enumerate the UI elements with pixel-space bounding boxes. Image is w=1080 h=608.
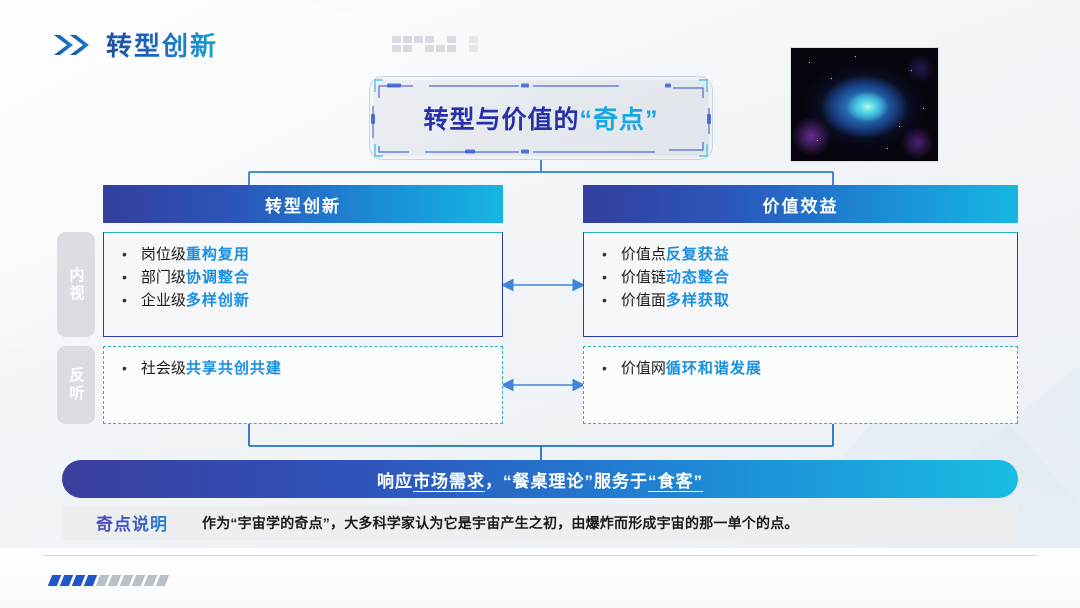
summary-banner: 响应市场需求，“餐桌理论”服务于“食客” — [62, 460, 1018, 498]
galaxy-singularity-image — [790, 47, 939, 162]
bullet-list: • 社会级共享共创共建 — [104, 347, 502, 380]
list-item: • 社会级共享共创共建 — [122, 357, 502, 380]
column-header-right[interactable]: 价值效益 — [583, 185, 1018, 223]
list-item-accent: 动态整合 — [666, 269, 730, 286]
side-tab-reflection[interactable]: 反听 — [57, 346, 95, 424]
summary-segment-4-underlined: “食客” — [648, 467, 703, 492]
list-item-accent: 协调整合 — [186, 269, 250, 286]
list-item-accent: 重构复用 — [186, 246, 250, 263]
list-item-text: 岗位级重构复用 — [141, 243, 250, 266]
list-item-accent: 共享共创共建 — [186, 360, 282, 377]
bullet-marker-icon: • — [602, 289, 607, 312]
list-item-text: 价值链动态整合 — [621, 266, 730, 289]
list-item-text: 价值点反复获益 — [621, 243, 730, 266]
summary-segment-3: ，“餐桌理论”服务于 — [485, 467, 648, 492]
list-item-prefix: 部门级 — [141, 269, 186, 286]
content-box-row2-left: • 社会级共享共创共建 — [103, 346, 503, 424]
summary-segment-1: 响应 — [377, 467, 413, 492]
bullet-marker-icon: • — [122, 357, 127, 380]
side-tab-inner-view[interactable]: 内视 — [57, 232, 95, 337]
bullet-marker-icon: • — [122, 289, 127, 312]
content-box-row1-right: • 价值点反复获益 • 价值链动态整合 • 价值面多样获取 — [583, 232, 1018, 337]
list-item-prefix: 岗位级 — [141, 246, 186, 263]
page-header: 转型创新 — [52, 26, 218, 63]
pixel-pattern-decoration — [392, 36, 489, 52]
double-chevron-right-icon — [52, 32, 92, 58]
bullet-list: • 岗位级重构复用 • 部门级协调整合 • 企业级多样创新 — [104, 233, 502, 312]
list-item-prefix: 价值点 — [621, 246, 666, 263]
list-item-prefix: 价值网 — [621, 360, 666, 377]
list-item-text: 社会级共享共创共建 — [141, 357, 282, 380]
content-box-row2-right: • 价值网循环和谐发展 — [583, 346, 1018, 424]
bullet-marker-icon: • — [122, 243, 127, 266]
list-item-accent: 循环和谐发展 — [666, 360, 762, 377]
slash-decoration — [50, 575, 167, 586]
list-item: • 价值链动态整合 — [602, 266, 1017, 289]
list-item: • 价值网循环和谐发展 — [602, 357, 1017, 380]
list-item-accent: 多样创新 — [186, 292, 250, 309]
bullet-marker-icon: • — [122, 266, 127, 289]
list-item-prefix: 价值链 — [621, 269, 666, 286]
list-item: • 企业级多样创新 — [122, 289, 502, 312]
hero-title-part-a: 转型与价值的 — [423, 100, 579, 136]
list-item-text: 价值网循环和谐发展 — [621, 357, 762, 380]
list-item: • 价值面多样获取 — [602, 289, 1017, 312]
bullet-marker-icon: • — [602, 266, 607, 289]
footer-divider — [42, 555, 1038, 556]
list-item: • 部门级协调整合 — [122, 266, 502, 289]
list-item-accent: 反复获益 — [666, 246, 730, 263]
list-item-text: 部门级协调整合 — [141, 266, 250, 289]
list-item-prefix: 企业级 — [141, 292, 186, 309]
note-label: 奇点说明 — [62, 510, 202, 535]
content-box-row1-left: • 岗位级重构复用 • 部门级协调整合 • 企业级多样创新 — [103, 232, 503, 337]
hero-title-banner: 转型与价值的 “奇点” — [369, 76, 713, 160]
list-item-prefix: 价值面 — [621, 292, 666, 309]
column-header-left[interactable]: 转型创新 — [103, 185, 503, 223]
list-item-text: 企业级多样创新 — [141, 289, 250, 312]
bullet-marker-icon: • — [602, 357, 607, 380]
page-title: 转型创新 — [106, 26, 218, 63]
list-item: • 价值点反复获益 — [602, 243, 1017, 266]
bullet-marker-icon: • — [602, 243, 607, 266]
list-item: • 岗位级重构复用 — [122, 243, 502, 266]
bullet-list: • 价值网循环和谐发展 — [584, 347, 1017, 380]
bullet-list: • 价值点反复获益 • 价值链动态整合 • 价值面多样获取 — [584, 233, 1017, 312]
hero-title-part-b: “奇点” — [580, 100, 659, 136]
hero-title-text: 转型与价值的 “奇点” — [369, 76, 713, 160]
note-row: 奇点说明 作为“宇宙学的奇点”，大多科学家认为它是宇宙产生之初，由爆炸而形成宇宙… — [62, 505, 1018, 540]
note-text: 作为“宇宙学的奇点”，大多科学家认为它是宇宙产生之初，由爆炸而形成宇宙的那一单个… — [202, 513, 1018, 533]
list-item-prefix: 社会级 — [141, 360, 186, 377]
list-item-text: 价值面多样获取 — [621, 289, 730, 312]
summary-segment-2-underlined: 市场需求 — [413, 467, 485, 492]
list-item-accent: 多样获取 — [666, 292, 730, 309]
